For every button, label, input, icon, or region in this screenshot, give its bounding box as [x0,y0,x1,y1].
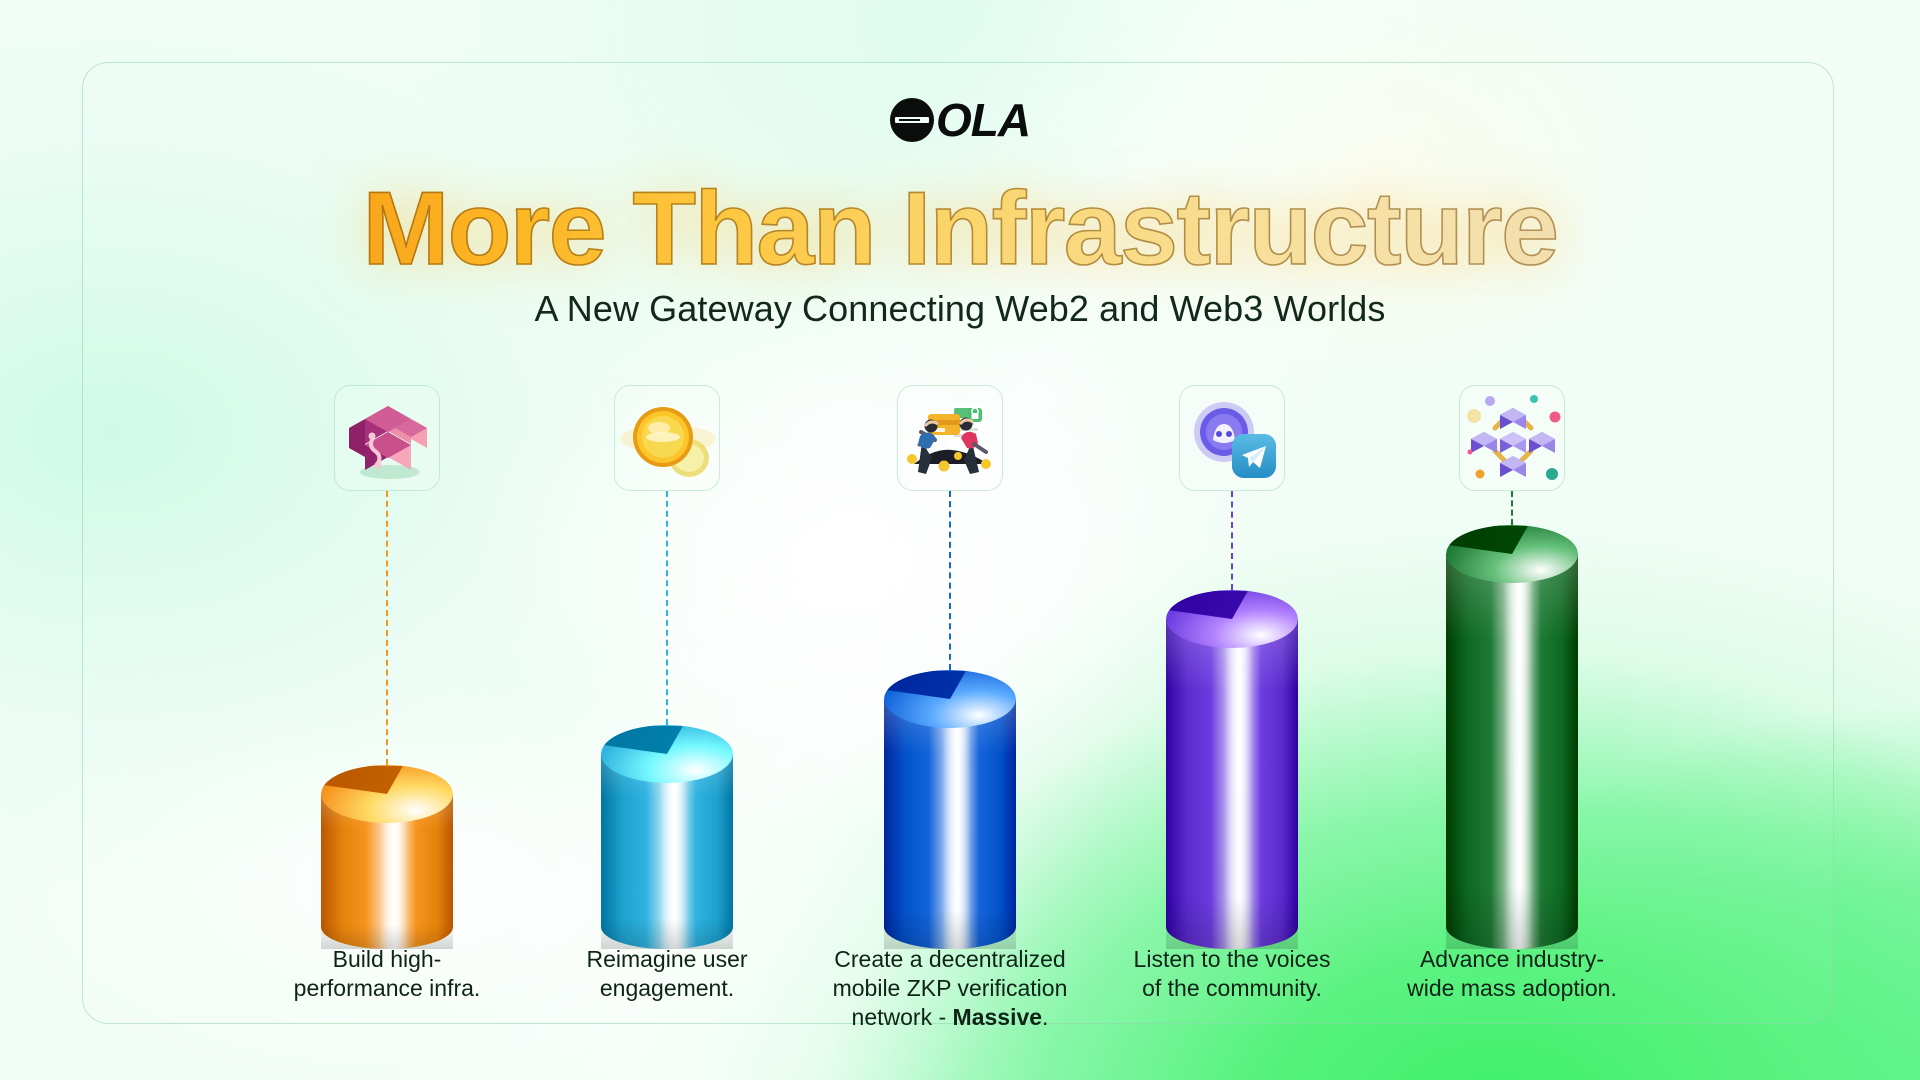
chart-column-2: Reimagine userengagement. [517,0,817,1080]
chart-column-1: Build high-performance infra. [237,0,537,1080]
bar-cap-5 [1446,525,1578,583]
bar-2 [601,725,733,949]
bar-4 [1166,590,1298,949]
bar-body-4 [1166,619,1298,949]
chart-column-3: Create a decentralizedmobile ZKP verific… [800,0,1100,1080]
bar-cap-3 [884,670,1016,728]
chart-column-5: Advance industry-wide mass adoption. [1362,0,1662,1080]
bar-cap-2 [601,725,733,783]
caption-4: Listen to the voicesof the community. [1092,945,1372,1003]
caption-2: Reimagine userengagement. [527,945,807,1003]
caption-5: Advance industry-wide mass adoption. [1372,945,1652,1003]
bar-3 [884,670,1016,949]
bar-body-5 [1446,554,1578,949]
connector-line-5 [1511,491,1513,525]
bar-cap-1 [321,765,453,823]
bar-body-3 [884,699,1016,949]
bar-body-2 [601,754,733,949]
chart-columns: Build high-performance infra. Reimagine … [82,0,1834,1080]
isometric-blocks-icon [334,385,440,491]
caption-1: Build high-performance infra. [247,945,527,1003]
bar-5 [1446,525,1578,949]
connector-line-3 [949,491,951,670]
connector-line-1 [386,491,388,765]
chart-column-4: Listen to the voicesof the community. [1082,0,1382,1080]
bar-1 [321,765,453,949]
caption-emphasis-3: Massive [953,1004,1043,1030]
caption-3: Create a decentralizedmobile ZKP verific… [810,945,1090,1032]
connector-line-4 [1231,491,1233,590]
gold-coin-icon [614,385,720,491]
crypto-miners-icon [897,385,1003,491]
bar-cap-4 [1166,590,1298,648]
connector-line-2 [666,491,668,725]
linked-cubes-icon [1459,385,1565,491]
discord-telegram-icon [1179,385,1285,491]
